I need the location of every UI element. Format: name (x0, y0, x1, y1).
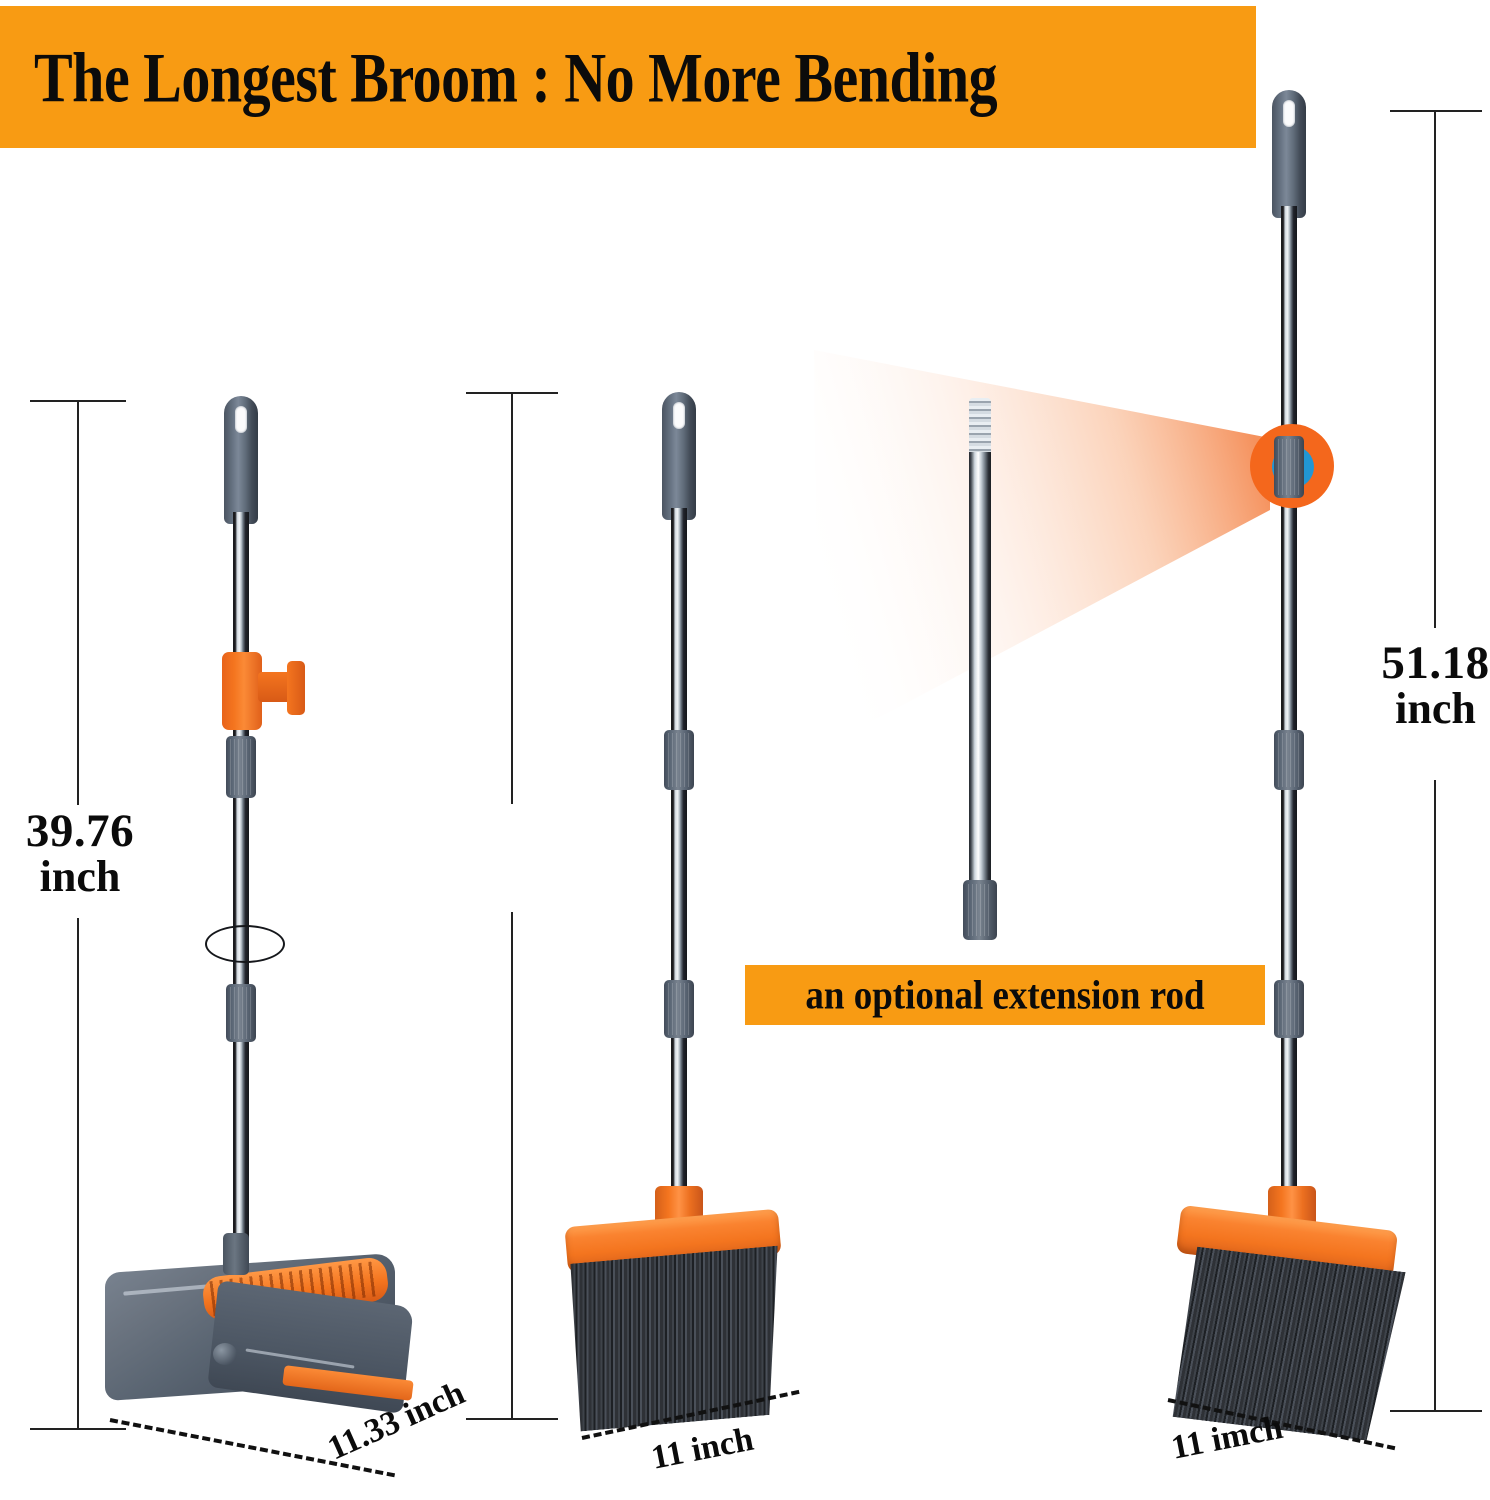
telescoping-pole-right (1281, 206, 1297, 1218)
pole-collar-middle-upper (664, 730, 694, 790)
middle-dimension-line-upper (511, 392, 513, 804)
telescoping-pole-middle (671, 508, 687, 1208)
middle-dimension-line-lower (511, 912, 513, 1420)
broom-middle-width-label: 11 inch (648, 1421, 756, 1478)
extension-rod-cap (963, 880, 997, 940)
hanging-hole-icon-middle (673, 402, 685, 429)
pole-collar-right-lower (1274, 980, 1304, 1038)
broom-bristles-right (1164, 1247, 1405, 1442)
right-dimension-value: 51.18 (1348, 640, 1490, 687)
header-banner: The Longest Broom : No More Bending (0, 6, 1256, 148)
pole-collar-left-upper (226, 736, 256, 798)
right-dimension-label: 51.18 inch (1348, 640, 1490, 731)
right-dimension-tick-bottom (1390, 1410, 1482, 1412)
left-dimension-line-upper (77, 400, 79, 805)
middle-dimension-tick-bottom (466, 1418, 558, 1420)
page-title: The Longest Broom : No More Bending (0, 36, 997, 118)
orange-clip-body[interactable] (222, 652, 262, 730)
dustpan-lock-knob[interactable] (213, 1343, 237, 1365)
orange-clip-tab (287, 661, 305, 715)
highlight-beam (800, 330, 1280, 990)
pole-collar-left-lower (226, 984, 256, 1042)
dustpan-pole-socket (223, 1233, 249, 1275)
hanging-hole-icon-right (1283, 100, 1295, 127)
left-dimension-value: 39.76 (0, 808, 170, 855)
left-dimension-unit: inch (0, 855, 170, 899)
pole-collar-right-joint (1274, 436, 1304, 498)
extension-rod-tube (969, 452, 991, 894)
infographic-canvas: The Longest Broom : No More Bending 39.7… (0, 0, 1490, 1500)
left-dimension-line-lower (77, 918, 79, 1430)
rotation-indicator-ellipse (205, 925, 285, 963)
extension-rod-callout-text: an optional extension rod (805, 971, 1204, 1019)
telescoping-pole-left (233, 512, 249, 1252)
extension-rod-callout: an optional extension rod (745, 965, 1265, 1025)
right-dimension-unit: inch (1348, 687, 1490, 731)
right-dimension-line-upper (1434, 110, 1436, 628)
pole-collar-right-middle (1274, 730, 1304, 790)
pole-collar-middle-lower (664, 980, 694, 1038)
left-dimension-label: 39.76 inch (0, 808, 170, 899)
right-dimension-line-lower (1434, 780, 1436, 1412)
right-dimension-tick-top (1390, 110, 1482, 112)
hanging-hole-icon-left (235, 406, 247, 433)
extension-rod-threaded-tip (969, 398, 991, 456)
